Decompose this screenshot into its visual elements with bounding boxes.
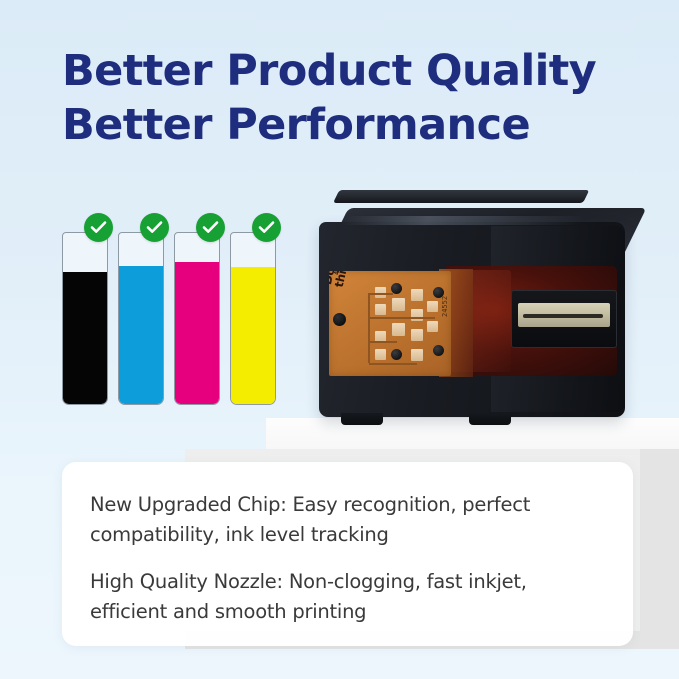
chip-contact-pad [411,349,423,361]
ink-cartridge-product: Don't remove this chip 4005B4 24552 [311,186,641,439]
check-circle-icon [196,213,225,242]
chip-contact-pad [392,298,405,311]
chip-code-label: 4005B4 [333,271,341,275]
cartridge-top-ridge [333,190,589,203]
chip-screw-bottom [391,349,402,360]
ink-bar-yellow [230,232,276,405]
product-feature-graphic: Better Product Quality Better Performanc… [0,0,679,679]
chip-trace [368,293,370,363]
chip-screw-right-bottom [433,345,444,356]
ink-bar-outline [62,232,108,405]
chip-code-label-2: 24552 [441,296,449,317]
check-circle-icon [140,213,169,242]
cartridge-foot-left [341,413,383,425]
ink-fill-yellow [231,267,275,404]
chip-trace [369,341,397,343]
cartridge-top-gloss [341,216,585,225]
ink-fill-cyan [119,266,163,405]
ink-level-bars [62,232,292,407]
chip-contact-pad [375,349,386,360]
feature-item-2: High Quality Nozzle: Non-clogging, fast … [90,567,599,627]
ink-bar-cyan [118,232,164,405]
chip-contact-pad [411,329,423,341]
ink-bar-outline [174,232,220,405]
chip-contact-pad [411,309,423,321]
ink-bar-outline [230,232,276,405]
check-circle-icon [252,213,281,242]
chip-via-1 [333,313,346,326]
cartridge-foot-right [469,413,511,425]
headline-block: Better Product Quality Better Performanc… [62,44,642,152]
chip-contact-pad [411,289,423,301]
ink-bar-magenta [174,232,220,405]
chip-contact-pad [392,323,405,336]
headline-line-1: Better Product Quality [62,44,642,98]
chip-contact-pad [427,301,438,312]
chip-contact-pad [427,321,438,332]
ink-fill-black [63,272,107,404]
check-circle-icon [84,213,113,242]
headline-line-2: Better Performance [62,98,642,152]
chip-trace [369,293,393,295]
chip-trace [387,317,435,319]
cartridge-chip: Don't remove this chip 4005B4 24552 [329,271,451,376]
chip-contact-pad [375,304,386,315]
nozzle-slit [523,314,603,318]
ink-bar-outline [118,232,164,405]
feature-item-1: New Upgraded Chip: Easy recognition, per… [90,490,599,550]
ink-fill-magenta [175,262,219,404]
chip-trace [369,363,417,365]
ink-bar-black [62,232,108,405]
feature-text-card: New Upgraded Chip: Easy recognition, per… [62,462,633,646]
